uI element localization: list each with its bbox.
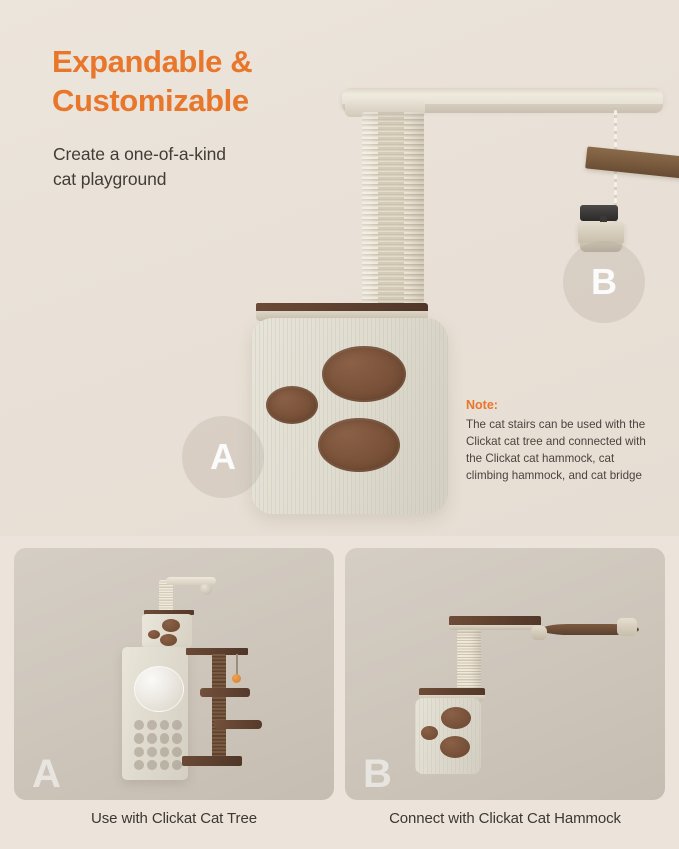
condo-ventilation-holes — [134, 720, 182, 770]
stairs-scratch-pad-2 — [421, 726, 438, 740]
vent-hole — [134, 760, 144, 770]
sisal-post-shading — [378, 112, 404, 308]
scratch-pad-small — [266, 386, 318, 424]
stairs-scratch-pad-3 — [440, 736, 470, 758]
vent-hole — [160, 747, 170, 757]
badge-a: A — [182, 416, 264, 498]
cat-tree-top-ball — [200, 583, 212, 595]
stairs-sisal-post — [457, 630, 481, 692]
panel-use-with-cat-tree: A — [14, 548, 334, 800]
subheadline-line-2: cat playground — [53, 167, 353, 192]
headline-line-1: Expandable & — [52, 44, 252, 79]
panel-letter-b: B — [363, 754, 392, 794]
vent-hole — [134, 720, 144, 730]
panel-connect-with-hammock: B — [345, 548, 665, 800]
bridge-mount-right — [617, 618, 637, 636]
caption-panel-b: Connect with Clickat Cat Hammock — [345, 810, 665, 827]
caption-panel-a: Use with Clickat Cat Tree — [14, 810, 334, 827]
toy-pompom — [232, 674, 241, 683]
vent-hole — [147, 720, 157, 730]
note-block: Note: The cat stairs can be used with th… — [466, 396, 648, 484]
illustration-cat-hammock — [345, 548, 665, 800]
vent-hole — [172, 733, 182, 743]
vent-hole — [160, 760, 170, 770]
stairs-scratch-pad-1 — [441, 707, 471, 729]
hero-section: Expandable & Customizable Create a one-o… — [0, 0, 679, 536]
vent-hole — [134, 733, 144, 743]
vent-hole — [172, 747, 182, 757]
cat-tree-base — [182, 756, 242, 766]
usage-panels: A B Use with Clickat Cat Tree Connect wi… — [0, 542, 679, 849]
cat-tree-main-post — [212, 654, 226, 766]
brown-fabric-strap — [585, 146, 679, 179]
vent-hole — [172, 720, 182, 730]
vent-hole — [160, 733, 170, 743]
condo-bubble-window — [134, 666, 184, 712]
cat-tree-shelf-2 — [200, 688, 250, 697]
headline-line-2: Customizable — [52, 81, 382, 120]
hero-subheadline: Create a one-of-a-kind cat playground — [53, 142, 353, 192]
cat-tree-shelf-3 — [214, 720, 262, 729]
badge-b: B — [563, 241, 645, 323]
cat-stairs-pad-1 — [162, 619, 180, 632]
vent-hole — [147, 760, 157, 770]
subheadline-line-1: Create a one-of-a-kind — [53, 144, 226, 164]
product-marketing-image: Expandable & Customizable Create a one-o… — [0, 0, 679, 849]
scratch-pad-large — [322, 346, 406, 402]
toy-string — [236, 654, 238, 676]
cat-stairs-pad-2 — [148, 630, 160, 639]
metal-clamp — [580, 205, 618, 221]
scratch-pad-medium — [318, 418, 400, 472]
vent-hole — [147, 733, 157, 743]
cat-stairs-pad-3 — [160, 634, 177, 646]
vent-hole — [160, 720, 170, 730]
illustration-cat-tree — [14, 548, 334, 800]
vent-hole — [172, 760, 182, 770]
panel-letter-a: A — [32, 754, 61, 794]
vent-hole — [134, 747, 144, 757]
hero-headline: Expandable & Customizable — [52, 42, 382, 120]
note-title: Note: — [466, 396, 648, 415]
vent-hole — [147, 747, 157, 757]
bridge-mount-left — [531, 626, 547, 640]
note-body: The cat stairs can be used with the Clic… — [466, 416, 648, 485]
